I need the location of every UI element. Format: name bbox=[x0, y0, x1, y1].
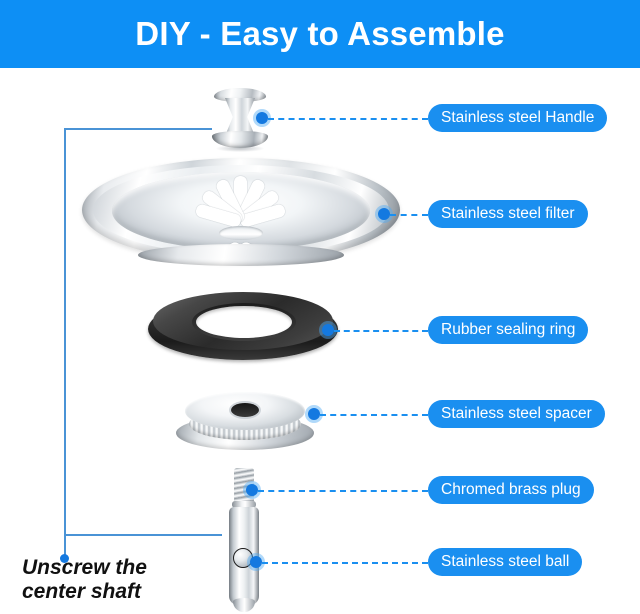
filter-foot bbox=[138, 244, 344, 266]
filter-bowl bbox=[112, 172, 370, 250]
callout-dot-brass-plug bbox=[246, 484, 258, 496]
leader-line-brass-plug bbox=[258, 490, 428, 492]
callout-dot-sealing-ring bbox=[322, 324, 334, 336]
bracket-top-horizontal bbox=[64, 128, 212, 130]
product-diagram-page: DIY - Easy to Assemble bbox=[0, 0, 640, 614]
callout-dot-filter bbox=[378, 208, 390, 220]
leader-line-handle bbox=[268, 118, 428, 120]
callout-dot-handle bbox=[256, 112, 268, 124]
leader-line-spacer bbox=[320, 414, 428, 416]
bracket-bottom-horizontal bbox=[64, 534, 222, 536]
callout-label-spacer[interactable]: Stainless steel spacer bbox=[428, 400, 605, 428]
leader-line-steel-ball bbox=[262, 562, 428, 564]
page-title: DIY - Easy to Assemble bbox=[135, 15, 504, 53]
leader-line-filter bbox=[390, 214, 428, 216]
spacer-center-hole bbox=[231, 403, 259, 417]
callout-label-brass-plug[interactable]: Chromed brass plug bbox=[428, 476, 594, 504]
part-rubber-sealing-ring bbox=[148, 292, 338, 364]
note-line-1: Unscrew the bbox=[22, 556, 212, 580]
callout-dot-steel-ball bbox=[250, 556, 262, 568]
bracket-vertical bbox=[64, 128, 66, 558]
callout-dot-spacer bbox=[308, 408, 320, 420]
callout-label-steel-ball[interactable]: Stainless steel ball bbox=[428, 548, 582, 576]
handle-shadow bbox=[216, 145, 264, 152]
part-stainless-steel-filter bbox=[82, 158, 400, 270]
ring-center-hole bbox=[196, 306, 292, 338]
leader-line-sealing-ring bbox=[334, 330, 428, 332]
callout-label-filter[interactable]: Stainless steel filter bbox=[428, 200, 588, 228]
callout-label-sealing-ring[interactable]: Rubber sealing ring bbox=[428, 316, 588, 344]
callout-label-handle[interactable]: Stainless steel Handle bbox=[428, 104, 607, 132]
plug-tip bbox=[233, 598, 255, 612]
filter-center-boss bbox=[219, 226, 263, 240]
part-stainless-steel-spacer bbox=[176, 392, 314, 454]
note-unscrew-center-shaft: Unscrew the center shaft bbox=[22, 556, 212, 603]
header-banner: DIY - Easy to Assemble bbox=[0, 0, 640, 68]
note-line-2: center shaft bbox=[22, 580, 212, 604]
